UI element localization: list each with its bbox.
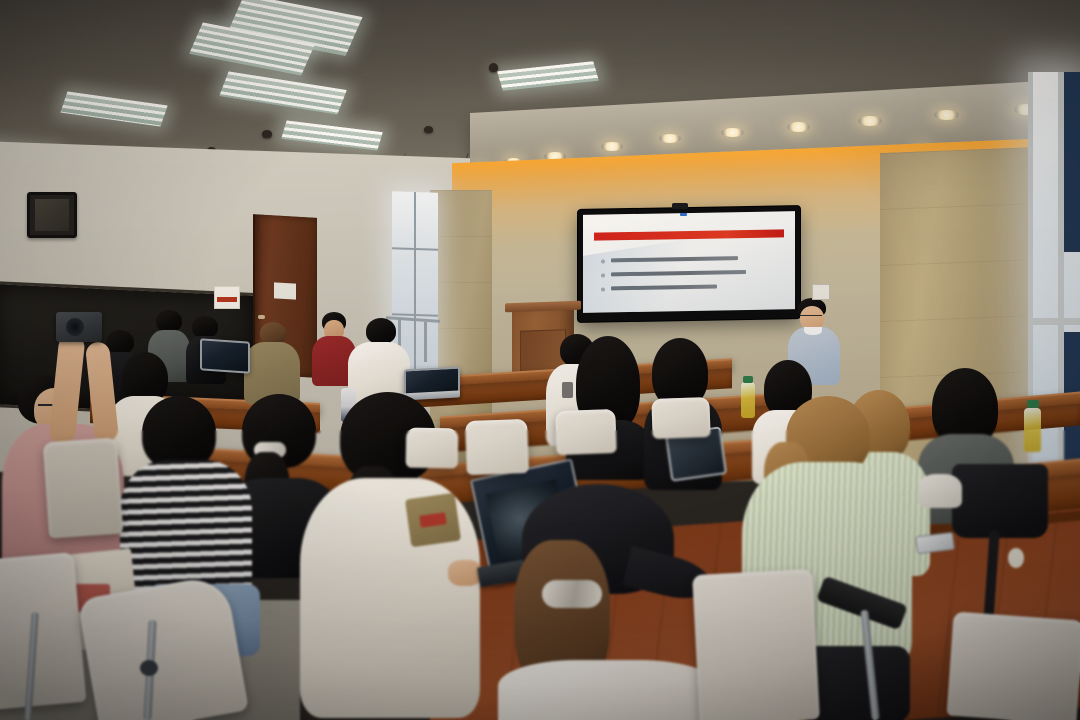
downlight xyxy=(787,122,810,132)
attendee-black-cap xyxy=(498,484,718,720)
chair[interactable] xyxy=(406,428,459,469)
backpack xyxy=(952,464,1048,538)
downlight xyxy=(659,134,681,143)
chair[interactable] xyxy=(77,574,249,720)
drink-bottle xyxy=(1024,408,1041,452)
presenter-glasses xyxy=(800,315,822,320)
downlight xyxy=(934,110,959,120)
ceiling-speaker xyxy=(262,130,272,138)
chair[interactable] xyxy=(692,569,820,720)
chair[interactable] xyxy=(43,438,124,539)
camera-lens xyxy=(66,318,84,336)
downlight xyxy=(601,142,623,151)
chair-foot xyxy=(140,660,158,676)
attendee-longhair-center xyxy=(566,336,650,476)
bag-charm xyxy=(1008,548,1024,568)
torso xyxy=(498,660,718,720)
wall-clock xyxy=(27,192,77,238)
chair[interactable] xyxy=(651,397,710,439)
hair xyxy=(156,310,182,332)
chair[interactable] xyxy=(555,409,616,455)
chair[interactable] xyxy=(947,612,1080,720)
door-notice xyxy=(274,282,296,299)
attendee-back-3 xyxy=(244,322,300,402)
hair xyxy=(192,316,218,338)
torso xyxy=(120,460,252,598)
bottle-cap xyxy=(1027,400,1039,408)
hair xyxy=(260,322,286,344)
presenter-collar xyxy=(804,327,822,335)
door-handle[interactable] xyxy=(258,315,265,319)
ceiling-speaker xyxy=(424,126,433,133)
hair xyxy=(366,318,396,344)
laptop[interactable] xyxy=(200,338,250,373)
wall-notice-sign xyxy=(214,286,240,309)
slide-content xyxy=(583,211,795,313)
attendee-white-shirt-back xyxy=(348,318,410,402)
display-status-led xyxy=(680,213,687,216)
bottle-cap xyxy=(743,376,753,383)
plastic-bag xyxy=(918,474,962,508)
chair[interactable] xyxy=(0,552,86,710)
wall-control-panel[interactable] xyxy=(812,284,830,300)
hair xyxy=(106,330,134,354)
balcony-railing xyxy=(424,322,427,362)
hair-scrunchie xyxy=(542,580,602,608)
screen-glare xyxy=(583,237,716,313)
downlight xyxy=(721,128,744,137)
presentation-display[interactable] xyxy=(578,206,800,322)
chair[interactable] xyxy=(465,419,529,475)
ceiling-speaker xyxy=(489,63,498,72)
seminar-room-photo xyxy=(0,0,1080,720)
display-camera xyxy=(672,203,688,209)
hair xyxy=(142,396,216,470)
downlight xyxy=(858,116,882,126)
